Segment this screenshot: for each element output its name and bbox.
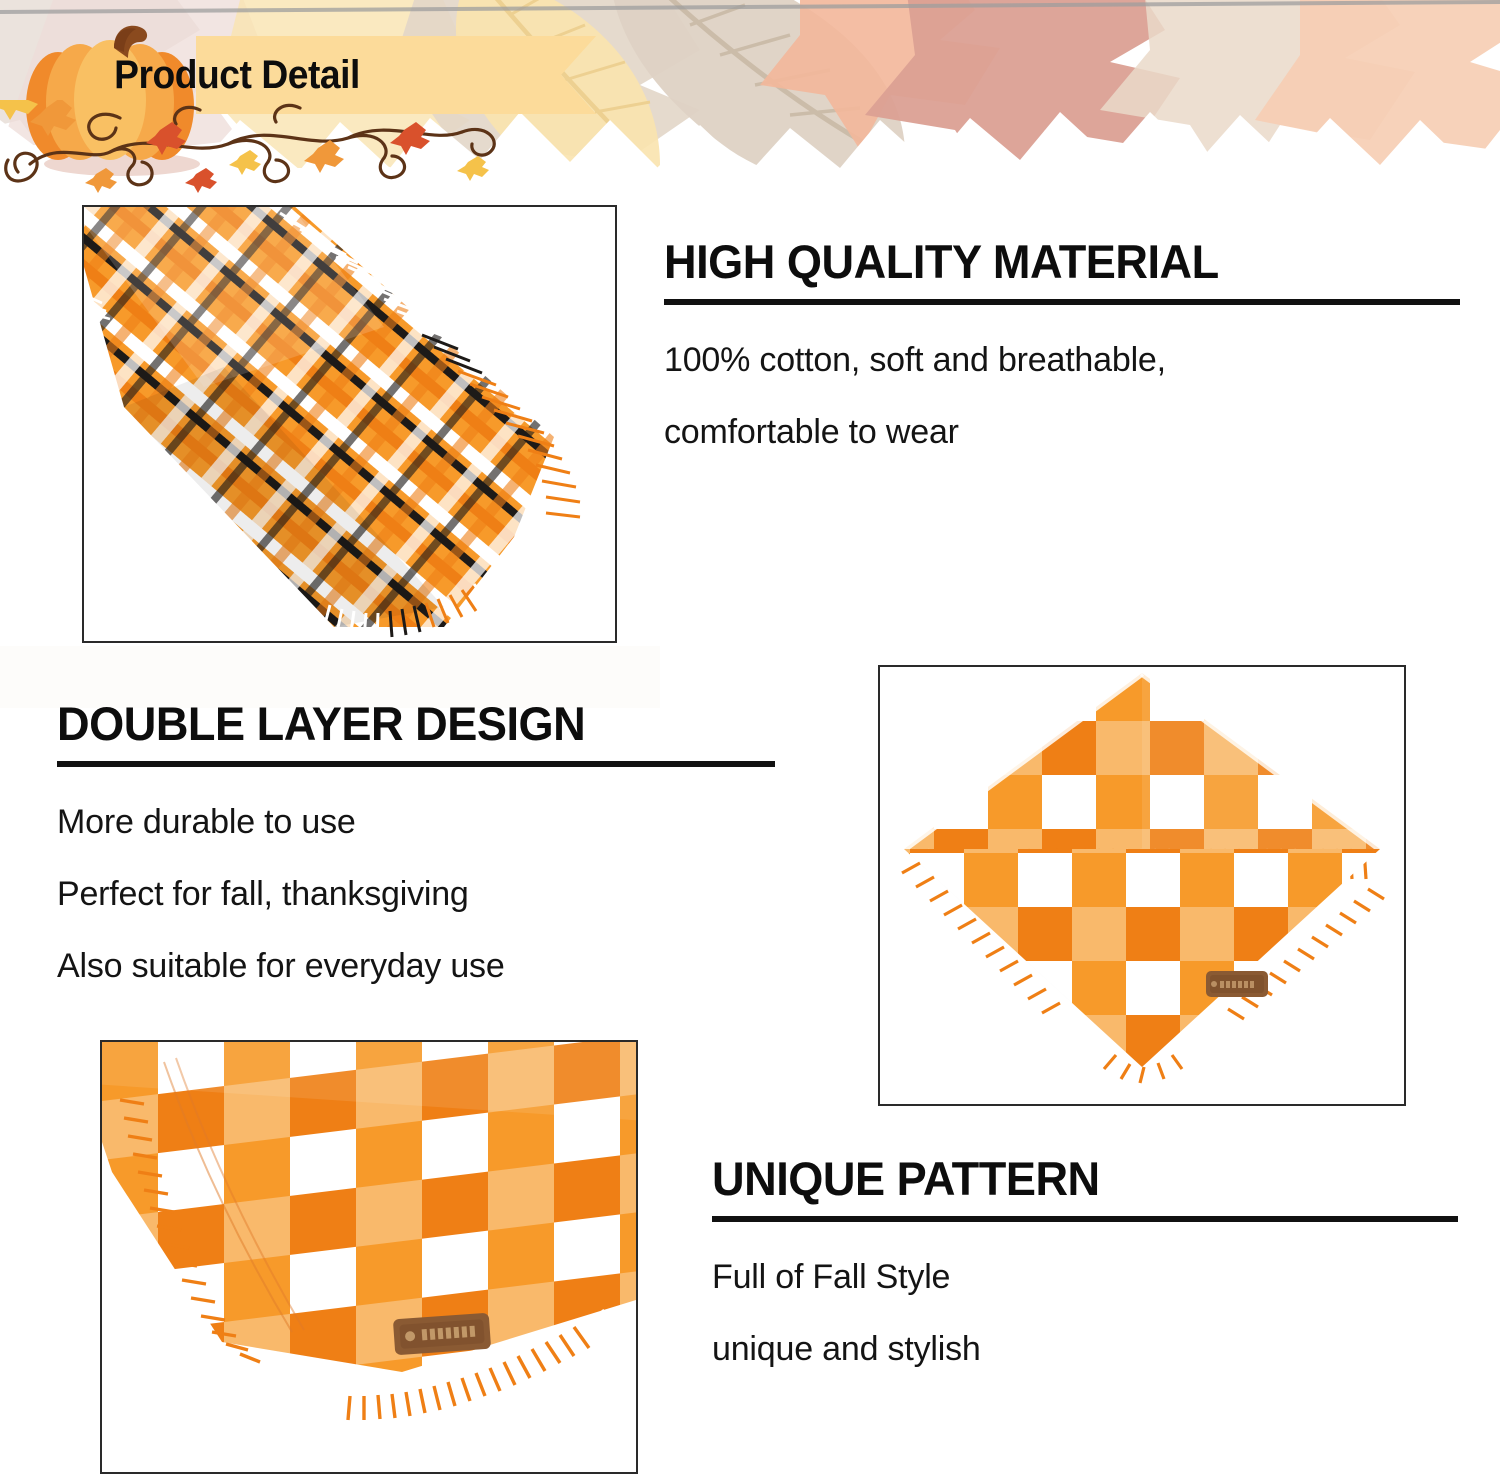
product-detail-infographic: Product Detail	[0, 0, 1500, 1481]
section-rule	[57, 761, 775, 767]
section-unique-pattern: UNIQUE PATTERN Full of Fall Style unique…	[712, 1155, 1460, 1366]
section-rule	[664, 299, 1460, 305]
section-body: More durable to use Perfect for fall, th…	[57, 805, 779, 983]
section-line: More durable to use	[57, 805, 779, 839]
section-high-quality-material: HIGH QUALITY MATERIAL 100% cotton, soft …	[664, 238, 1464, 449]
section-body: Full of Fall Style unique and stylish	[712, 1260, 1460, 1366]
section-line: Also suitable for everyday use	[57, 949, 779, 983]
section-heading: DOUBLE LAYER DESIGN	[57, 700, 750, 747]
plaid-fabric-closeup-photo	[82, 205, 617, 643]
section-rule	[712, 1216, 1458, 1222]
section-body: 100% cotton, soft and breathable, comfor…	[664, 343, 1464, 449]
bandana-corner-photo	[100, 1040, 638, 1474]
decorative-swirl-icon	[0, 100, 560, 200]
section-line: comfortable to wear	[664, 415, 1464, 449]
section-line: 100% cotton, soft and breathable,	[664, 343, 1464, 377]
section-line: Full of Fall Style	[712, 1260, 1460, 1294]
section-double-layer-design: DOUBLE LAYER DESIGN More durable to use …	[57, 700, 779, 983]
section-heading: UNIQUE PATTERN	[712, 1155, 1430, 1202]
leather-label-tag	[1206, 971, 1268, 997]
section-line: unique and stylish	[712, 1332, 1460, 1366]
header-banner: Product Detail	[0, 0, 1500, 205]
folded-bandana-photo	[878, 665, 1406, 1106]
leather-label-tag	[393, 1313, 491, 1356]
section-line: Perfect for fall, thanksgiving	[57, 877, 779, 911]
section-heading: HIGH QUALITY MATERIAL	[664, 238, 1432, 285]
